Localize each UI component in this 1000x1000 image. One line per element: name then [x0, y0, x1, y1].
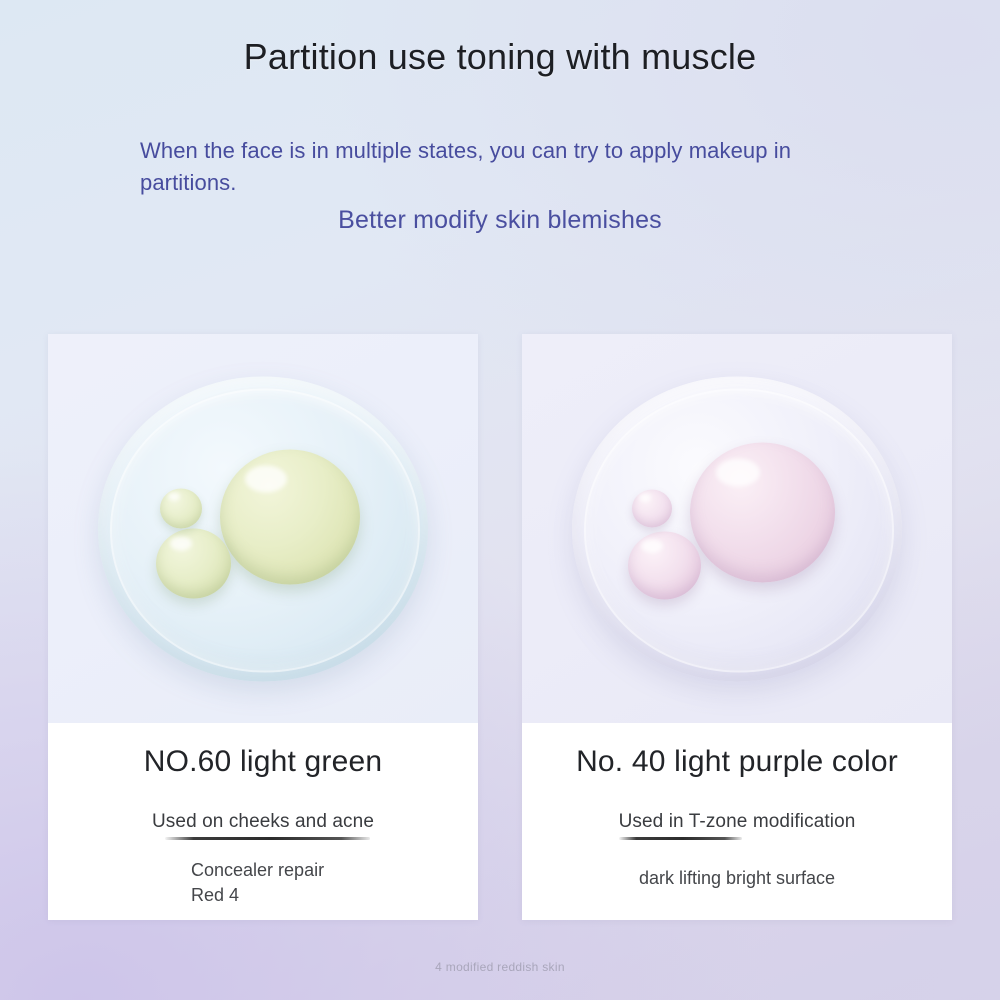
product-info-light-purple: No. 40 light purple color Used in T-zone… [522, 723, 952, 920]
page-tagline: Better modify skin blemishes [0, 206, 1000, 235]
droplet-small-icon [632, 489, 672, 527]
product-name: No. 40 light purple color [522, 745, 952, 779]
petri-dish-icon [98, 376, 428, 681]
product-details: Concealer repair Red 4 [48, 858, 478, 908]
droplet-large-icon [690, 442, 835, 582]
product-usage: Used in T-zone modification [619, 811, 856, 840]
product-usage-row: Used in T-zone modification [522, 811, 952, 840]
product-detail-line-1: dark lifting bright surface [522, 866, 952, 891]
product-detail-line-1: Concealer repair [191, 858, 478, 883]
page-subtitle: When the face is in multiple states, you… [140, 135, 820, 199]
droplet-medium-icon [628, 531, 701, 599]
product-usage: Used on cheeks and acne [152, 811, 374, 840]
product-info-light-green: NO.60 light green Used on cheeks and acn… [48, 723, 478, 920]
product-usage-text: Used in T-zone modification [619, 811, 856, 832]
product-card-list: NO.60 light green Used on cheeks and acn… [48, 334, 952, 920]
underline-stroke [165, 837, 369, 840]
underline-stroke [619, 837, 742, 840]
petri-dish-icon [572, 376, 902, 681]
product-card-light-purple[interactable]: No. 40 light purple color Used in T-zone… [522, 334, 952, 920]
product-image-light-purple [522, 334, 952, 723]
product-card-light-green[interactable]: NO.60 light green Used on cheeks and acn… [48, 334, 478, 920]
product-image-light-green [48, 334, 478, 723]
promo-page: Partition use toning with muscle When th… [0, 0, 1000, 1000]
product-name: NO.60 light green [48, 745, 478, 779]
droplet-medium-icon [156, 528, 231, 598]
footer-note: 4 modified reddish skin [0, 960, 1000, 974]
product-usage-text: Used on cheeks and acne [152, 811, 374, 832]
page-title: Partition use toning with muscle [0, 36, 1000, 78]
product-usage-row: Used on cheeks and acne [48, 811, 478, 840]
product-details: dark lifting bright surface [522, 866, 952, 891]
droplet-large-icon [220, 449, 360, 584]
product-detail-line-2: Red 4 [191, 883, 478, 908]
droplet-small-icon [160, 488, 202, 528]
